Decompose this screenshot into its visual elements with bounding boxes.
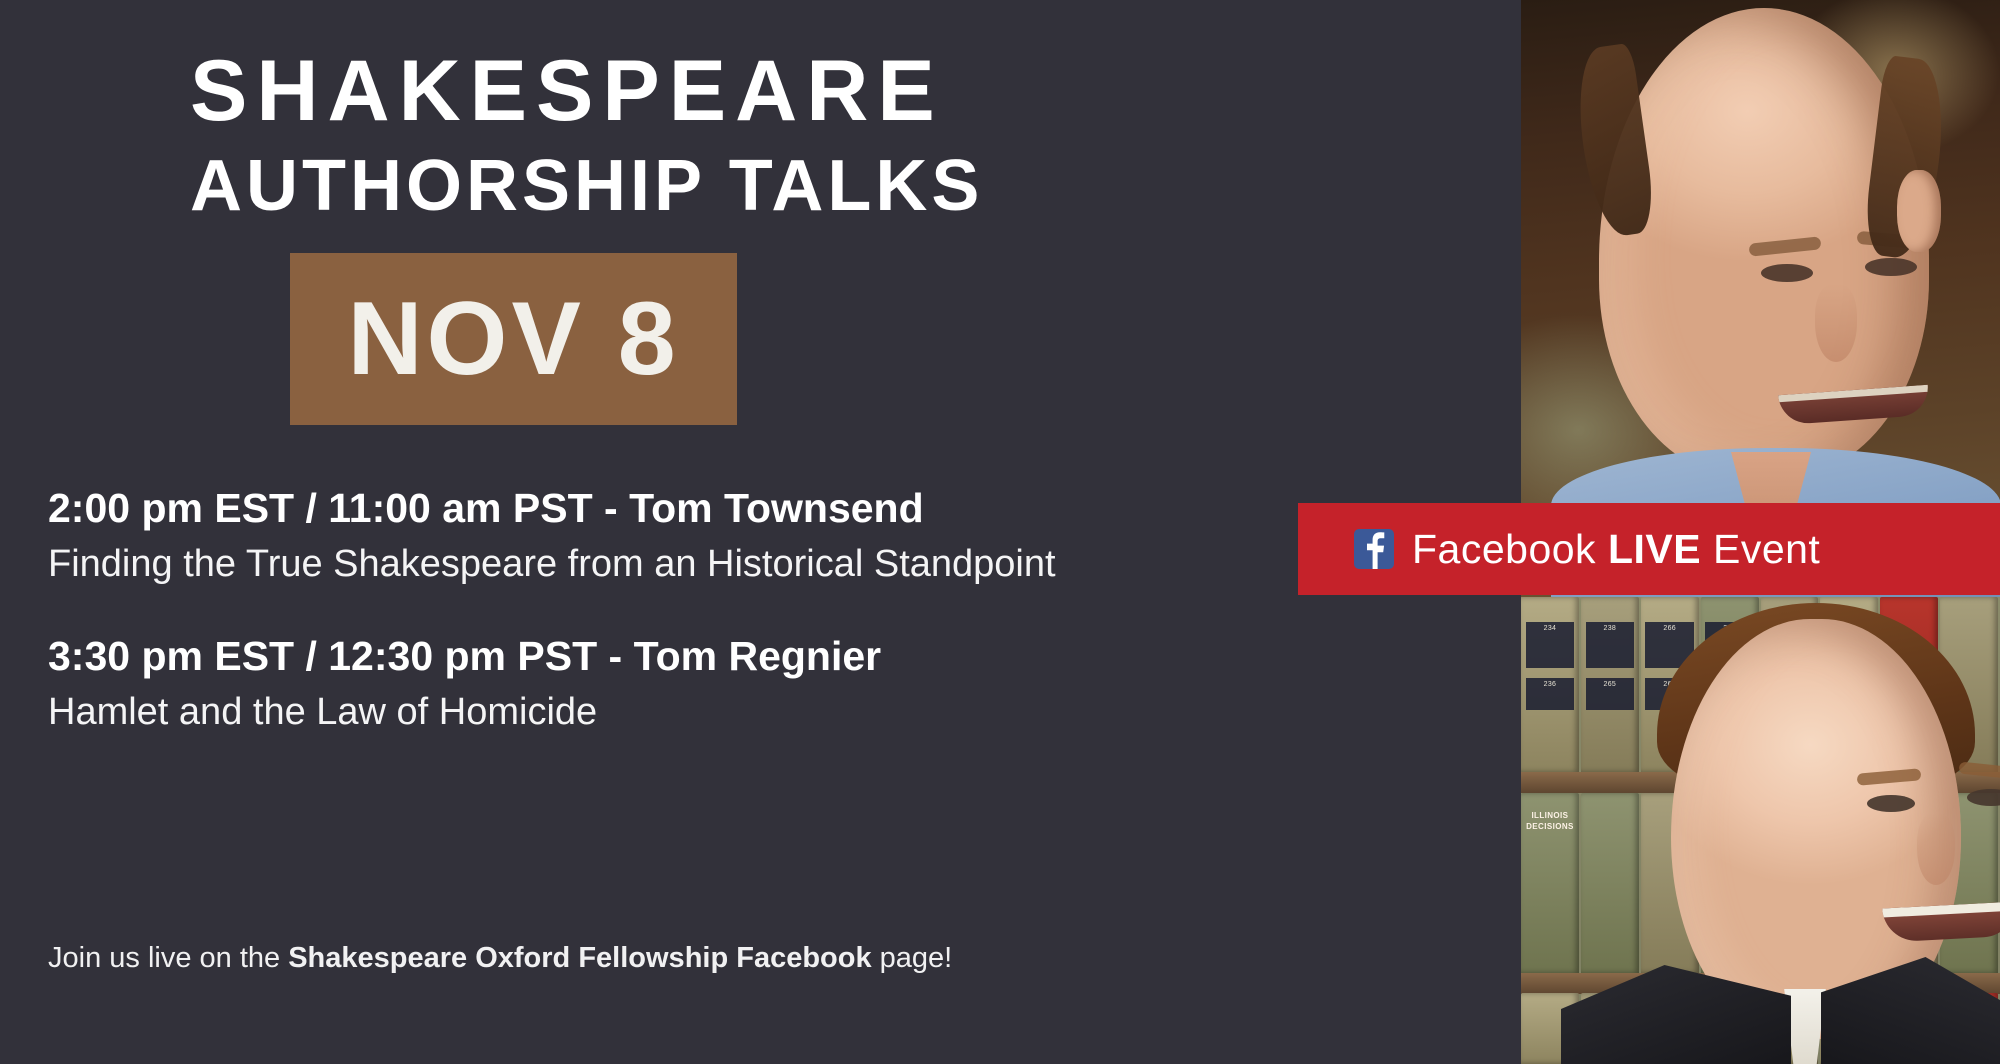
hair-left xyxy=(1570,43,1658,240)
eye-right xyxy=(1865,258,1917,276)
date-badge-label: NOV 8 xyxy=(347,287,679,391)
session-item: 3:30 pm EST / 12:30 pm PST - Tom Regnier… xyxy=(48,630,1488,738)
footer-prefix: Join us live on the xyxy=(48,942,288,974)
ear-right xyxy=(1897,170,1941,252)
session-headline: 3:30 pm EST / 12:30 pm PST - Tom Regnier xyxy=(48,630,1488,682)
facebook-f-icon xyxy=(1354,529,1394,569)
mouth xyxy=(1778,385,1930,425)
footer-emphasis: Shakespeare Oxford Fellowship Facebook xyxy=(288,942,871,974)
session-topic: Hamlet and the Law of Homicide xyxy=(48,688,1488,737)
session-headline: 2:00 pm EST / 11:00 am PST - Tom Townsen… xyxy=(48,482,1488,534)
nose xyxy=(1815,284,1857,362)
book-spine-label: 265 xyxy=(1586,678,1635,710)
book-spine-label: 236 xyxy=(1526,678,1575,710)
mouth xyxy=(1882,902,2000,943)
facebook-live-banner: Facebook LIVE Event xyxy=(1298,503,2000,595)
banner-emphasis: LIVE xyxy=(1608,526,1701,572)
session-item: 2:00 pm EST / 11:00 am PST - Tom Townsen… xyxy=(48,482,1488,590)
content-column: SHAKESPEARE AUTHORSHIP TALKS NOV 8 2:00 … xyxy=(0,0,1521,1064)
footer-note: Join us live on the Shakespeare Oxford F… xyxy=(48,940,952,978)
book-spine: 234 236 xyxy=(1521,597,1579,772)
event-poster: SHAKESPEARE AUTHORSHIP TALKS NOV 8 2:00 … xyxy=(0,0,2000,1064)
eye-left xyxy=(1761,264,1813,282)
eyebrow-left xyxy=(1749,236,1822,256)
speaker-photo-regnier: 234 236 238 265 266 267 268 xyxy=(1521,597,2000,1064)
book-spine: 238 265 xyxy=(1581,597,1639,772)
book-spine-label: 238 xyxy=(1586,622,1635,668)
session-topic: Finding the True Shakespeare from an His… xyxy=(48,540,1488,589)
date-badge: NOV 8 xyxy=(290,253,737,425)
poster-title: SHAKESPEARE AUTHORSHIP TALKS xyxy=(190,48,1430,226)
nose xyxy=(1917,813,1955,885)
book-spine: ILLINOIS DECISIONS xyxy=(1521,793,1579,973)
banner-suffix: Event xyxy=(1701,526,1820,572)
title-line-authorship-talks: AUTHORSHIP TALKS xyxy=(190,148,1430,226)
book-spine xyxy=(1581,793,1639,973)
title-line-shakespeare: SHAKESPEARE xyxy=(190,48,1430,134)
eyebrow-left xyxy=(1857,768,1922,786)
book-spine-label: ILLINOIS DECISIONS xyxy=(1524,811,1575,865)
eye-left xyxy=(1867,795,1915,812)
book-spine-label: 234 xyxy=(1526,622,1575,668)
banner-prefix: Facebook xyxy=(1412,526,1608,572)
footer-suffix: page! xyxy=(872,942,953,974)
facebook-live-text: Facebook LIVE Event xyxy=(1412,529,1820,570)
session-list: 2:00 pm EST / 11:00 am PST - Tom Townsen… xyxy=(48,482,1488,778)
